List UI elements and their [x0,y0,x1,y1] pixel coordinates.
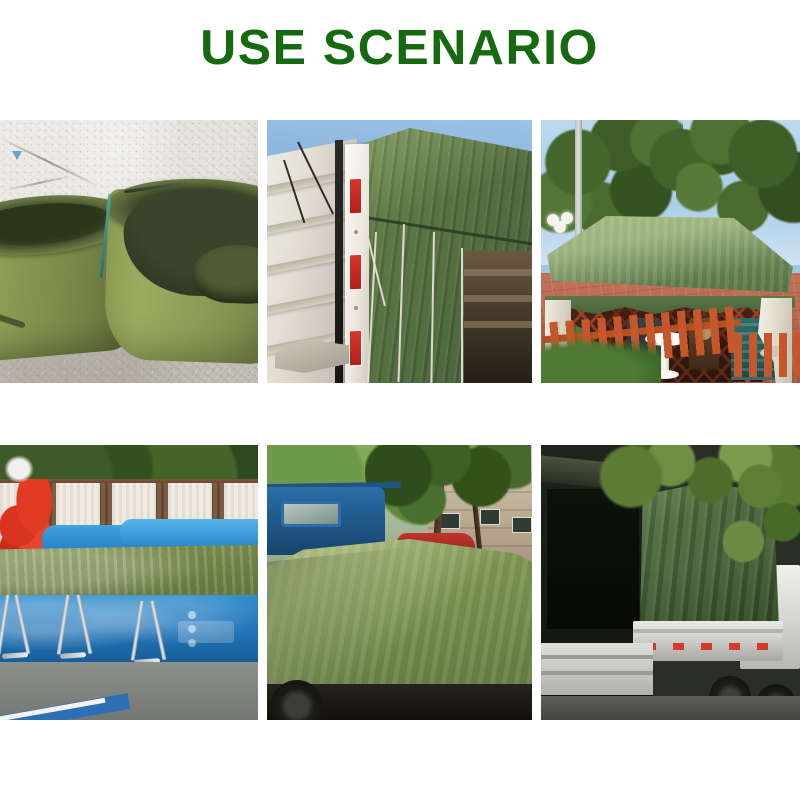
page-title: USE SCENARIO [201,22,600,74]
scenario-photo-canvas-buckets [0,120,258,383]
red-reflector-icon [349,178,362,214]
panel-slat [267,289,357,316]
overhanging-branch-leaves-right [720,455,800,575]
red-reflector-icon [757,643,768,650]
tie-down-rope [461,248,463,383]
truck-bed-rail [633,629,783,633]
tree-canopy [365,445,531,535]
board-slat [541,655,653,659]
red-reflector-icon [349,254,362,290]
panel-slat [267,249,357,276]
scenario-photo-flatbed-truck-tarp [541,445,800,720]
cargo-plank [464,295,532,302]
panel-slat [267,209,357,236]
scenario-photo-pool-cover [0,445,258,720]
board-slat [541,671,653,675]
pool-valve-icon [188,611,196,619]
pool-water-surface [120,519,258,545]
red-reflector-icon [349,330,362,366]
garden-fence-right [734,333,800,377]
garden-lamp-icon [547,212,581,232]
truck-rear-window [281,501,341,527]
cargo-plank [464,269,532,276]
scenario-photo-cargo-truck-tarp [267,445,532,720]
pool-cover-scene [0,445,258,720]
slide-ladder-icon [4,455,34,483]
cargo-truck-scene [267,445,532,720]
canvas-buckets-scene [0,120,258,383]
panel-bolt-icon [354,306,358,310]
truck-side-board [633,621,783,661]
poster-root: USE SCENARIO [0,0,800,800]
red-reflector-icon [673,643,684,650]
canvas-bucket-right [103,189,258,366]
road-surface [541,696,800,720]
scenario-gallery [0,120,800,720]
red-reflector-icon [701,643,712,650]
lawn-grass [541,337,661,383]
red-reflector-icon [729,643,740,650]
scenario-photo-truck-trailer-tarp [267,120,532,383]
background-cargo [464,251,532,383]
pool-brand-label [178,621,234,643]
truck-trailer-scene [267,120,532,383]
flatbed-truck-scene [541,445,800,720]
second-truck-side-board [541,643,653,695]
scenario-photo-garden-gazebo [541,120,800,383]
garden-gazebo-scene [541,120,800,383]
panel-bolt-icon [354,230,358,234]
title-bar: USE SCENARIO [0,22,800,74]
cargo-plank [464,321,532,328]
